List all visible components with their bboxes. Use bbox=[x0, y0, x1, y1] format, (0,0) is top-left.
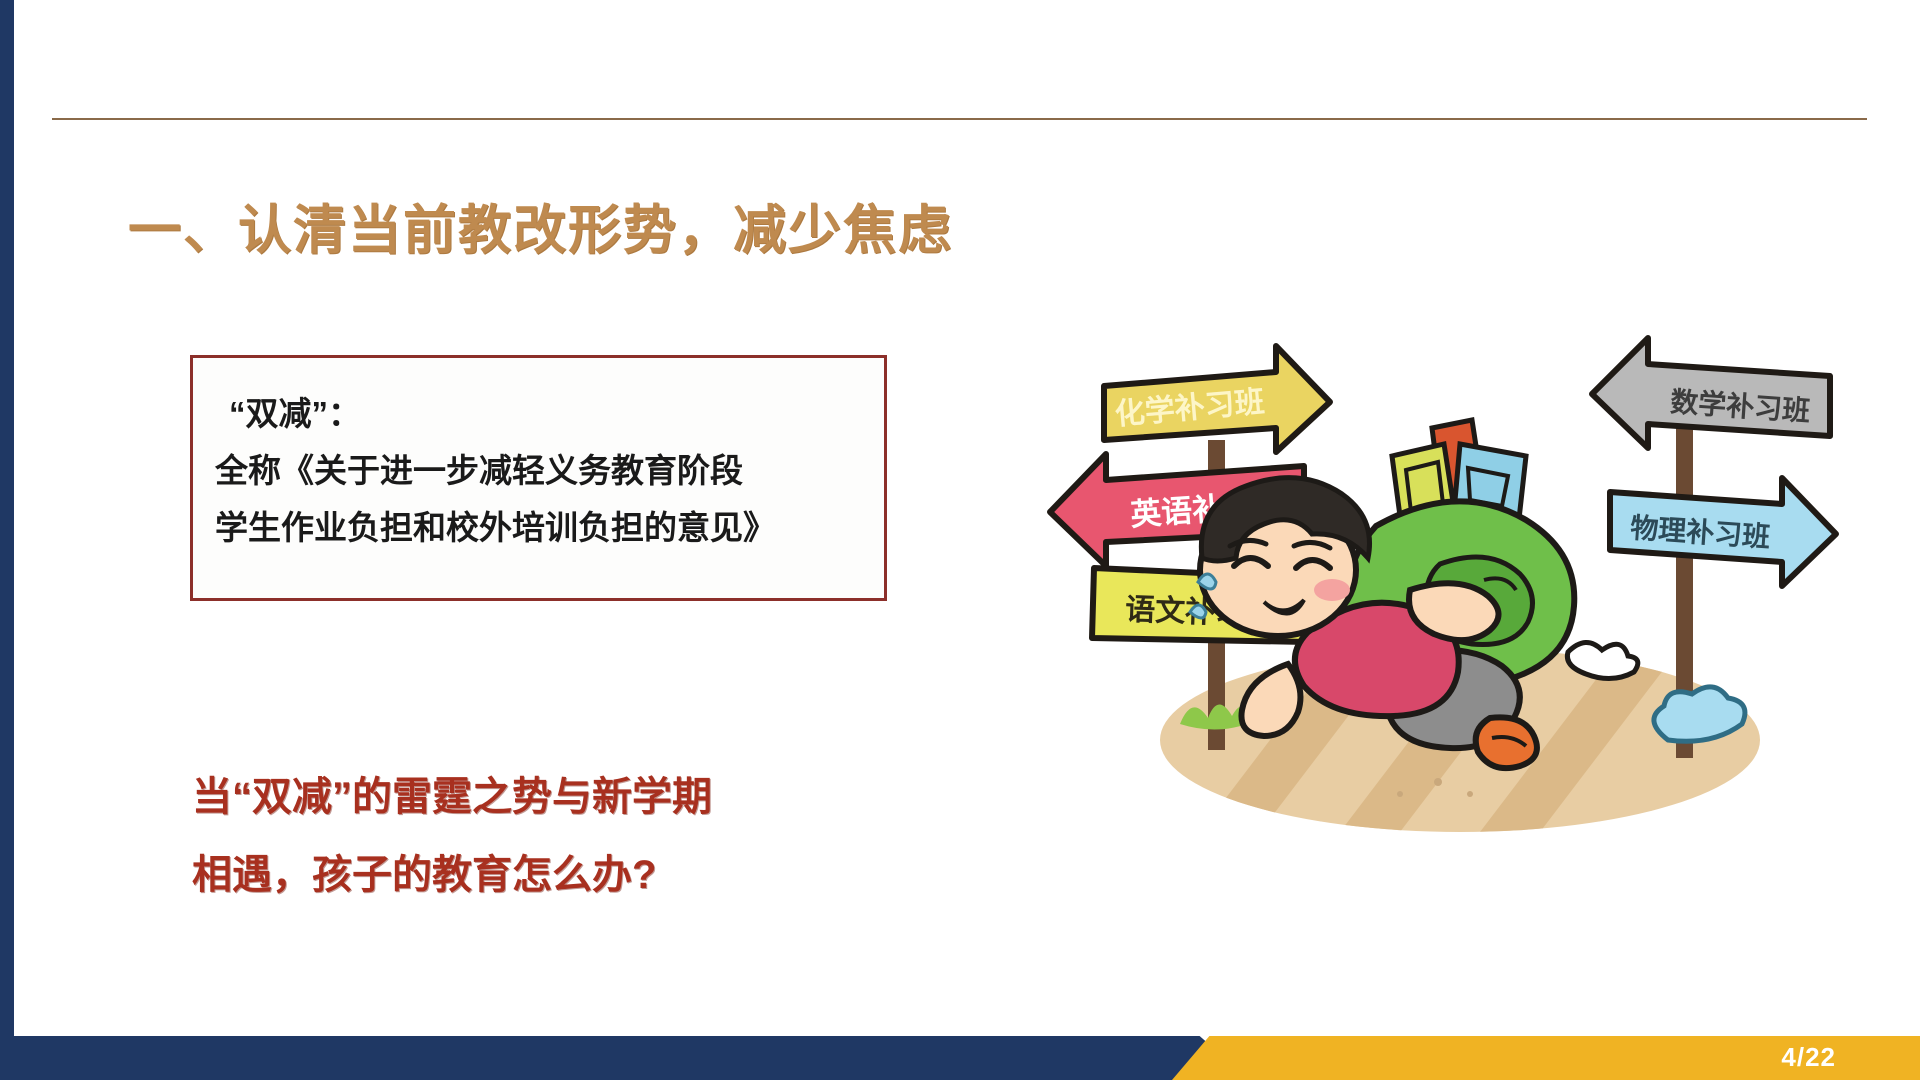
blush bbox=[1314, 579, 1350, 601]
definition-line-1: “双减”： bbox=[215, 386, 875, 443]
sign-physics: 物理补习班 bbox=[1610, 478, 1836, 586]
page-title: 一、认清当前教改形势，减少焦虑 bbox=[128, 188, 953, 264]
definition-callout-box: “双减”： 全称《关于进一步减轻义务教育阶段 学生作业负担和校外培训负担的意见》 bbox=[190, 355, 887, 601]
ground-dot bbox=[1467, 791, 1473, 797]
footer-navy-band bbox=[0, 1036, 1180, 1080]
definition-text-group: “双减”： 全称《关于进一步减轻义务教育阶段 学生作业负担和校外培训负担的意见》 bbox=[215, 386, 875, 556]
ground-dot bbox=[1434, 778, 1442, 786]
slide-canvas: 一、认清当前教改形势，减少焦虑 “双减”： 全称《关于进一步减轻义务教育阶段 学… bbox=[0, 0, 1920, 1080]
sign-chemistry: 化学补习班 bbox=[1104, 346, 1330, 452]
motion-puff bbox=[1567, 642, 1637, 678]
page-number: 4/22 bbox=[1781, 1042, 1836, 1073]
ground-dot bbox=[1397, 791, 1403, 797]
question-text-group: 当“双减”的雷霆之势与新学期 相遇，孩子的教育怎么办? bbox=[192, 758, 912, 914]
definition-line-2: 全称《关于进一步减轻义务教育阶段 bbox=[215, 443, 875, 500]
question-line-1: 当“双减”的雷霆之势与新学期 bbox=[192, 758, 912, 836]
question-line-2: 相遇，孩子的教育怎么办? bbox=[192, 836, 912, 914]
blue-blob-right bbox=[1654, 687, 1745, 741]
header-divider-rule bbox=[52, 118, 1867, 120]
left-accent-bar bbox=[0, 0, 14, 1080]
sign-math: 数学补习班 bbox=[1592, 338, 1830, 448]
tired-student-illustration: 化学补习班 英语补习班 语文补习班 数学补习班 bbox=[1040, 320, 1840, 880]
shoe bbox=[1476, 717, 1537, 768]
definition-line-3: 学生作业负担和校外培训负担的意见》 bbox=[215, 500, 875, 557]
